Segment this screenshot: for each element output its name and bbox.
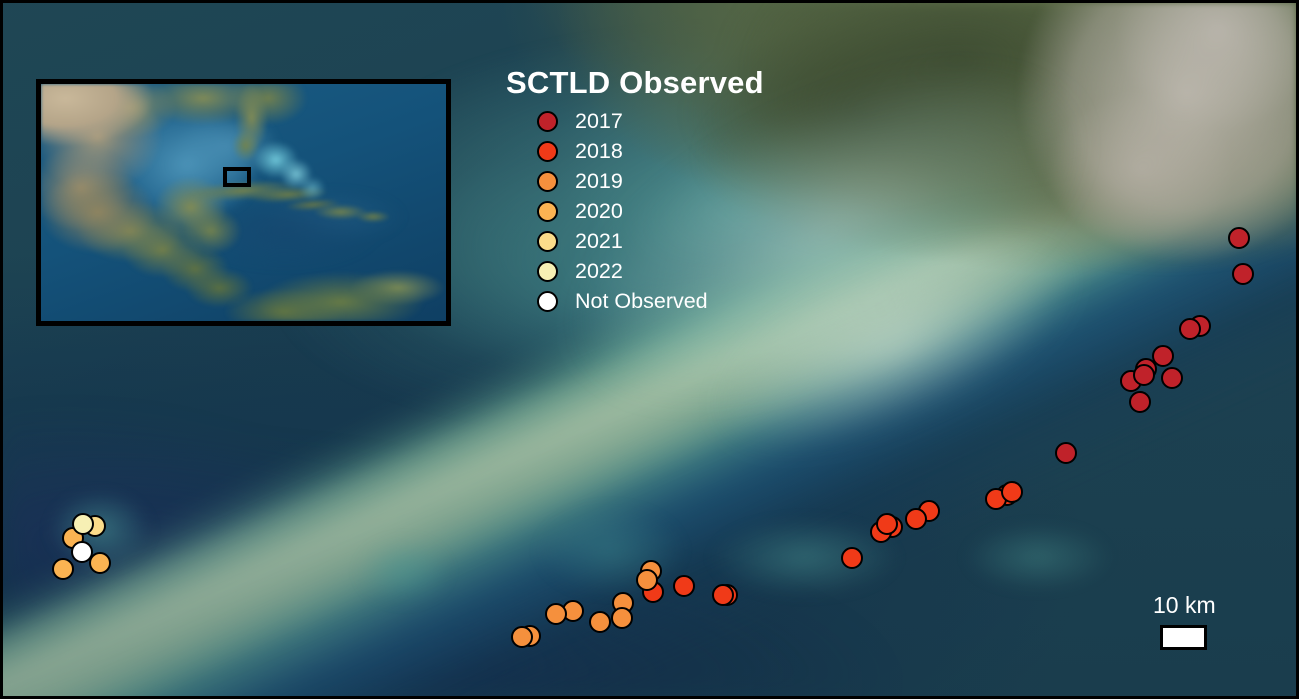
scale-bar: 10 km (1153, 592, 1216, 650)
legend-swatch-y2017 (537, 111, 558, 132)
legend-item-y2022[interactable]: 2022 (506, 256, 764, 286)
data-point[interactable] (636, 569, 658, 591)
inset-study-area-box (223, 167, 251, 187)
data-point[interactable] (71, 541, 93, 563)
scale-bar-rectangle (1160, 625, 1207, 650)
legend-label-y2019: 2019 (575, 169, 623, 194)
data-point[interactable] (1055, 442, 1077, 464)
legend-swatch-y2018 (537, 141, 558, 162)
legend-item-y2021[interactable]: 2021 (506, 226, 764, 256)
legend-label-y2021: 2021 (575, 229, 623, 254)
legend-swatch-y2020 (537, 201, 558, 222)
legend-item-list: 201720182019202020212022Not Observed (506, 106, 764, 316)
legend-item-not_observed[interactable]: Not Observed (506, 286, 764, 316)
legend: SCTLD Observed 201720182019202020212022N… (506, 65, 764, 316)
data-point[interactable] (1179, 318, 1201, 340)
legend-swatch-y2021 (537, 231, 558, 252)
data-point[interactable] (841, 547, 863, 569)
data-point[interactable] (1129, 391, 1151, 413)
legend-swatch-y2022 (537, 261, 558, 282)
legend-label-y2022: 2022 (575, 259, 623, 284)
data-point[interactable] (876, 513, 898, 535)
legend-label-y2020: 2020 (575, 199, 623, 224)
sctld-map-figure: SCTLD Observed 201720182019202020212022N… (0, 0, 1299, 699)
legend-item-y2020[interactable]: 2020 (506, 196, 764, 226)
data-point[interactable] (1001, 481, 1023, 503)
legend-label-y2018: 2018 (575, 139, 623, 164)
data-point[interactable] (712, 584, 734, 606)
legend-title: SCTLD Observed (506, 65, 764, 101)
legend-label-y2017: 2017 (575, 109, 623, 134)
data-point[interactable] (1232, 263, 1254, 285)
data-point[interactable] (589, 611, 611, 633)
legend-item-y2019[interactable]: 2019 (506, 166, 764, 196)
data-point[interactable] (545, 603, 567, 625)
legend-swatch-y2019 (537, 171, 558, 192)
locator-inset-map (36, 79, 451, 326)
data-point[interactable] (905, 508, 927, 530)
data-point[interactable] (673, 575, 695, 597)
legend-swatch-not_observed (537, 291, 558, 312)
legend-item-y2018[interactable]: 2018 (506, 136, 764, 166)
inset-bahamas-banks-layer (41, 84, 446, 321)
legend-item-y2017[interactable]: 2017 (506, 106, 764, 136)
data-point[interactable] (1228, 227, 1250, 249)
data-point[interactable] (511, 626, 533, 648)
data-point[interactable] (52, 558, 74, 580)
data-point[interactable] (611, 607, 633, 629)
data-point[interactable] (72, 513, 94, 535)
legend-label-not_observed: Not Observed (575, 289, 708, 314)
data-point[interactable] (1161, 367, 1183, 389)
scale-bar-label: 10 km (1153, 592, 1216, 619)
data-point[interactable] (1133, 364, 1155, 386)
